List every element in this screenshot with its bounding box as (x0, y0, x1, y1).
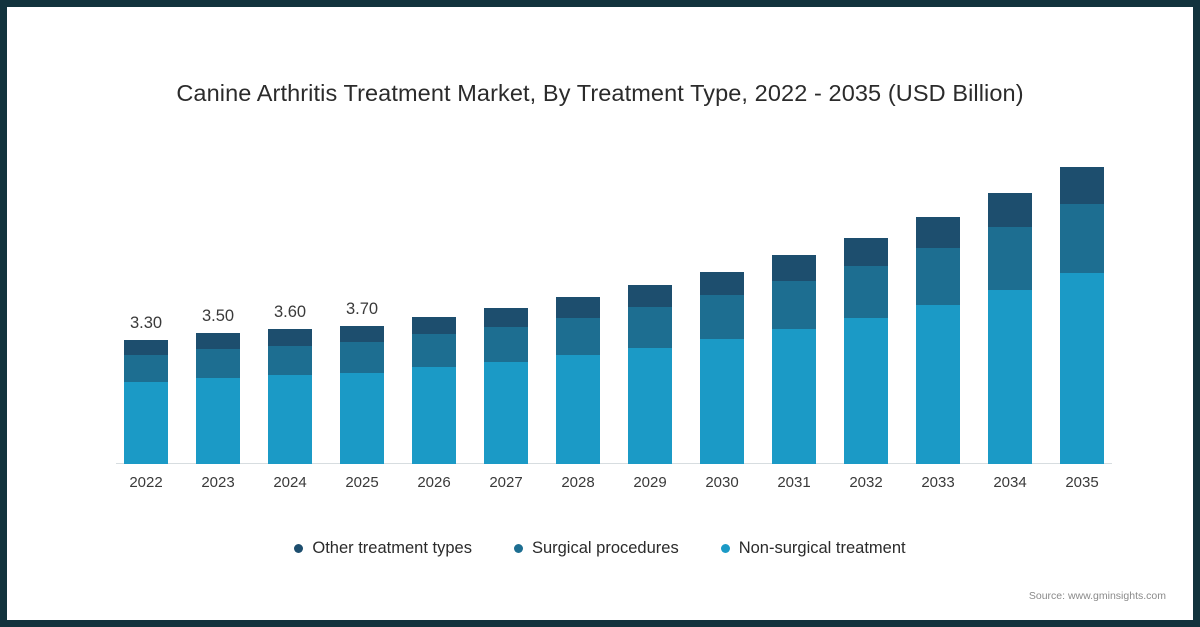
plot-area: 3.303.503.603.70 (116, 142, 1112, 464)
bar-segment-surgical-procedures[interactable] (1060, 204, 1104, 273)
x-axis-line (116, 463, 1112, 464)
source-attribution: Source: www.gminsights.com (1029, 590, 1166, 602)
bar-group (484, 308, 528, 464)
x-axis-tick-2024: 2024 (268, 474, 312, 491)
bar-segment-surgical-procedures[interactable] (556, 318, 600, 356)
legend-item[interactable]: Other treatment types (294, 539, 472, 558)
stacked-bar[interactable] (772, 255, 816, 464)
bar-segment-other-treatment-types[interactable] (556, 297, 600, 317)
chart-canvas: Canine Arthritis Treatment Market, By Tr… (11, 11, 1189, 616)
bar-segment-non-surgical-treatment[interactable] (268, 375, 312, 464)
x-axis-tick-2034: 2034 (988, 474, 1032, 491)
bar-segment-surgical-procedures[interactable] (700, 295, 744, 339)
bar-segment-non-surgical-treatment[interactable] (916, 305, 960, 464)
stacked-bar[interactable] (412, 317, 456, 464)
bar-segment-non-surgical-treatment[interactable] (1060, 273, 1104, 464)
bar-segment-non-surgical-treatment[interactable] (484, 362, 528, 464)
stacked-bar[interactable]: 3.70 (340, 326, 384, 465)
bar-group: 3.60 (268, 329, 312, 464)
x-axis-tick-2029: 2029 (628, 474, 672, 491)
bar-segment-other-treatment-types[interactable] (340, 326, 384, 342)
bar-segment-surgical-procedures[interactable] (340, 342, 384, 373)
bar-group (1060, 167, 1104, 464)
stacked-bar[interactable] (628, 285, 672, 464)
x-axis-tick-2022: 2022 (124, 474, 168, 491)
legend-label: Surgical procedures (532, 539, 679, 558)
stacked-bar[interactable] (700, 272, 744, 464)
bar-segment-other-treatment-types[interactable] (916, 217, 960, 248)
bar-segment-non-surgical-treatment[interactable] (124, 382, 168, 464)
bar-segment-other-treatment-types[interactable] (988, 193, 1032, 227)
legend-item[interactable]: Surgical procedures (514, 539, 679, 558)
bar-group (412, 317, 456, 464)
bar-segment-surgical-procedures[interactable] (844, 266, 888, 318)
bar-value-label: 3.50 (202, 307, 234, 326)
bar-segment-non-surgical-treatment[interactable] (844, 318, 888, 464)
bar-segment-surgical-procedures[interactable] (412, 334, 456, 367)
bar-segment-non-surgical-treatment[interactable] (988, 290, 1032, 464)
bar-group (772, 255, 816, 464)
x-axis-tick-2030: 2030 (700, 474, 744, 491)
bar-segment-surgical-procedures[interactable] (772, 281, 816, 329)
stacked-bar[interactable] (484, 308, 528, 464)
stacked-bar[interactable]: 3.50 (196, 333, 240, 464)
bar-group (700, 272, 744, 464)
bar-segment-other-treatment-types[interactable] (196, 333, 240, 349)
x-axis-tick-2027: 2027 (484, 474, 528, 491)
bar-segment-other-treatment-types[interactable] (844, 238, 888, 266)
chart-title: Canine Arthritis Treatment Market, By Tr… (12, 80, 1188, 107)
bar-value-label: 3.60 (274, 303, 306, 322)
bar-segment-other-treatment-types[interactable] (484, 308, 528, 327)
legend-label: Other treatment types (312, 539, 472, 558)
bar-group (556, 297, 600, 464)
bar-segment-other-treatment-types[interactable] (700, 272, 744, 296)
bar-segment-non-surgical-treatment[interactable] (628, 348, 672, 464)
x-axis-tick-2023: 2023 (196, 474, 240, 491)
chart-legend: Other treatment typesSurgical procedures… (12, 539, 1188, 558)
bar-segment-non-surgical-treatment[interactable] (340, 373, 384, 464)
x-axis-tick-2028: 2028 (556, 474, 600, 491)
bar-group (628, 285, 672, 464)
bar-segment-surgical-procedures[interactable] (124, 355, 168, 382)
x-axis-tick-2033: 2033 (916, 474, 960, 491)
x-axis-tick-2031: 2031 (772, 474, 816, 491)
bar-segment-surgical-procedures[interactable] (196, 349, 240, 378)
x-axis-tick-labels: 2022202320242025202620272028202920302031… (116, 474, 1112, 498)
legend-label: Non-surgical treatment (739, 539, 906, 558)
bar-group: 3.70 (340, 326, 384, 465)
stacked-bar[interactable]: 3.30 (124, 340, 168, 464)
bar-segment-non-surgical-treatment[interactable] (556, 355, 600, 464)
bar-group (844, 238, 888, 465)
stacked-bar[interactable] (1060, 167, 1104, 464)
bar-segment-non-surgical-treatment[interactable] (412, 367, 456, 464)
bar-segment-other-treatment-types[interactable] (628, 285, 672, 307)
bar-segment-other-treatment-types[interactable] (268, 329, 312, 345)
stacked-bar[interactable] (556, 297, 600, 464)
legend-dot-icon (294, 544, 303, 553)
bar-segment-non-surgical-treatment[interactable] (772, 329, 816, 464)
bar-segment-surgical-procedures[interactable] (988, 227, 1032, 290)
stacked-bar[interactable] (844, 238, 888, 465)
bar-value-label: 3.30 (130, 314, 162, 333)
stacked-bar[interactable] (988, 193, 1032, 464)
legend-item[interactable]: Non-surgical treatment (721, 539, 906, 558)
bar-segment-surgical-procedures[interactable] (268, 346, 312, 376)
bar-segment-surgical-procedures[interactable] (916, 248, 960, 305)
bar-segment-non-surgical-treatment[interactable] (196, 378, 240, 464)
bar-segment-non-surgical-treatment[interactable] (700, 339, 744, 464)
stacked-bar[interactable]: 3.60 (268, 329, 312, 464)
bar-segment-other-treatment-types[interactable] (1060, 167, 1104, 204)
bar-group (988, 193, 1032, 464)
legend-dot-icon (514, 544, 523, 553)
bar-group (916, 217, 960, 464)
bar-group: 3.30 (124, 340, 168, 464)
x-axis-tick-2025: 2025 (340, 474, 384, 491)
x-axis-tick-2035: 2035 (1060, 474, 1104, 491)
bar-segment-surgical-procedures[interactable] (484, 327, 528, 362)
bar-segment-other-treatment-types[interactable] (124, 340, 168, 355)
bar-group: 3.50 (196, 333, 240, 464)
bar-segment-surgical-procedures[interactable] (628, 307, 672, 348)
legend-dot-icon (721, 544, 730, 553)
bar-segment-other-treatment-types[interactable] (772, 255, 816, 281)
bar-segment-other-treatment-types[interactable] (412, 317, 456, 335)
chart-frame: Canine Arthritis Treatment Market, By Tr… (0, 0, 1200, 627)
stacked-bar[interactable] (916, 217, 960, 464)
bar-value-label: 3.70 (346, 300, 378, 319)
x-axis-tick-2032: 2032 (844, 474, 888, 491)
x-axis-tick-2026: 2026 (412, 474, 456, 491)
